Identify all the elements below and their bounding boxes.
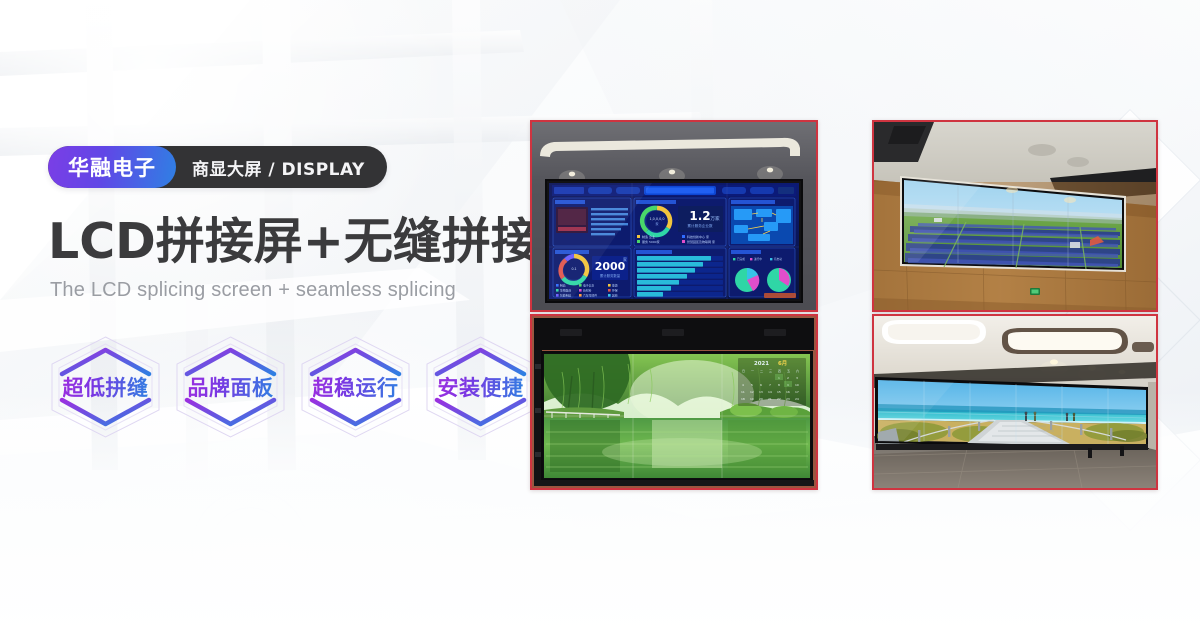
svg-text:家: 家 (623, 256, 627, 262)
svg-text:1.2: 1.2 (689, 209, 710, 223)
copy-block: 华融电子 商显大屏 / DISPLAY LCD拼接屏+无缝拼接 The LCD … (48, 146, 518, 302)
svg-text:8: 8 (778, 383, 780, 387)
brand-category: 商显大屏 / DISPLAY (176, 146, 387, 188)
svg-text:汽车零部件: 汽车零部件 (583, 293, 597, 297)
feature-label: 安装便捷 (438, 372, 524, 402)
feature-item-3: 超稳运行 (296, 334, 415, 440)
svg-text:能源: 能源 (612, 283, 618, 287)
svg-text:三: 三 (769, 369, 772, 373)
svg-text:智慧园区及物联网 家: 智慧园区及物联网 家 (687, 239, 715, 244)
svg-text:17: 17 (795, 390, 799, 394)
feature-label: 品牌面板 (188, 372, 274, 402)
svg-text:2: 2 (787, 376, 789, 380)
feature-label: 超低拼缝 (63, 372, 149, 402)
svg-text:21: 21 (768, 397, 772, 401)
svg-text:累计服务企业数: 累计服务企业数 (687, 223, 713, 228)
svg-text:6: 6 (760, 383, 762, 387)
svg-text:10: 10 (795, 383, 799, 387)
svg-text:13: 13 (759, 390, 763, 394)
svg-text:新材料: 新材料 (583, 288, 592, 292)
svg-text:服务 5000家: 服务 5000家 (642, 239, 660, 244)
page-title: LCD拼接屏+无缝拼接 (48, 216, 518, 268)
svg-text:一: 一 (751, 369, 754, 373)
brand-name: 华融电子 (48, 146, 176, 188)
photo-illustration: 2021 6月 日一二 三四五六 123 456 78910 111213 14… (532, 316, 816, 488)
gallery-photo-solar-farm-wall (872, 120, 1158, 312)
photo-illustration: 1,0,0,0,0 家 1.2 万家 累计服务企业数 制造 企业 服务 5000… (532, 122, 816, 310)
svg-text:16: 16 (786, 390, 790, 394)
svg-text:4: 4 (742, 383, 744, 387)
photo-illustration (874, 316, 1156, 488)
svg-text:电子信息: 电子信息 (583, 283, 594, 287)
svg-text:六: 六 (796, 368, 799, 373)
svg-text:2000: 2000 (595, 260, 626, 273)
svg-text:6月: 6月 (778, 359, 787, 367)
svg-text:14: 14 (768, 390, 772, 394)
gallery-photo-willow-lake-wall: 2021 6月 日一二 三四五六 123 456 78910 111213 14… (530, 314, 818, 490)
svg-text:其他: 其他 (612, 293, 618, 297)
svg-text:科技创新中心 家: 科技创新中心 家 (687, 234, 709, 239)
svg-text:2021: 2021 (754, 361, 769, 367)
svg-text:22: 22 (777, 397, 781, 401)
svg-text:累计服务数量: 累计服务数量 (600, 273, 621, 278)
promo-banner: 华融电子 商显大屏 / DISPLAY LCD拼接屏+无缝拼接 The LCD … (0, 0, 1200, 640)
svg-text:5: 5 (751, 383, 753, 387)
svg-text:环保: 环保 (612, 288, 618, 292)
svg-text:7: 7 (769, 383, 771, 387)
svg-text:18: 18 (741, 397, 745, 401)
photo-illustration (874, 122, 1156, 310)
svg-text:23: 23 (786, 397, 790, 401)
page-subtitle: The LCD splicing screen + seamless splic… (50, 279, 518, 302)
svg-text:日: 日 (742, 369, 745, 373)
svg-text:1,0,0,0,0: 1,0,0,0,0 (649, 217, 664, 221)
svg-text:12: 12 (750, 390, 754, 394)
svg-text:11: 11 (741, 390, 745, 394)
gallery-photo-dashboard-video-wall: 1,0,0,0,0 家 1.2 万家 累计服务企业数 制造 企业 服务 5000… (530, 120, 818, 312)
feature-item-2: 品牌面板 (171, 334, 290, 440)
svg-text:制造 企业: 制造 企业 (642, 234, 655, 239)
gallery-photo-beach-boardwalk-wall (872, 314, 1158, 490)
svg-text:20: 20 (759, 397, 763, 401)
svg-text:待启动: 待启动 (774, 257, 782, 261)
feature-item-4: 安装便捷 (421, 334, 540, 440)
svg-text:19: 19 (750, 397, 754, 401)
feature-item-1: 超低拼缝 (46, 334, 165, 440)
feature-list: 超低拼缝 品牌面板 (46, 334, 540, 440)
svg-text:二: 二 (760, 369, 763, 373)
svg-text:四: 四 (778, 369, 781, 373)
svg-text:家: 家 (655, 221, 658, 226)
svg-text:进行中: 进行中 (754, 257, 762, 261)
svg-text:五: 五 (787, 369, 790, 373)
svg-text:万家: 万家 (710, 215, 720, 222)
brand-badge: 华融电子 商显大屏 / DISPLAY (48, 146, 387, 188)
svg-text:24: 24 (795, 397, 799, 401)
svg-text:15: 15 (777, 390, 781, 394)
svg-text:3: 3 (796, 376, 798, 380)
svg-text:已完成: 已完成 (737, 257, 745, 261)
feature-label: 超稳运行 (313, 372, 399, 402)
